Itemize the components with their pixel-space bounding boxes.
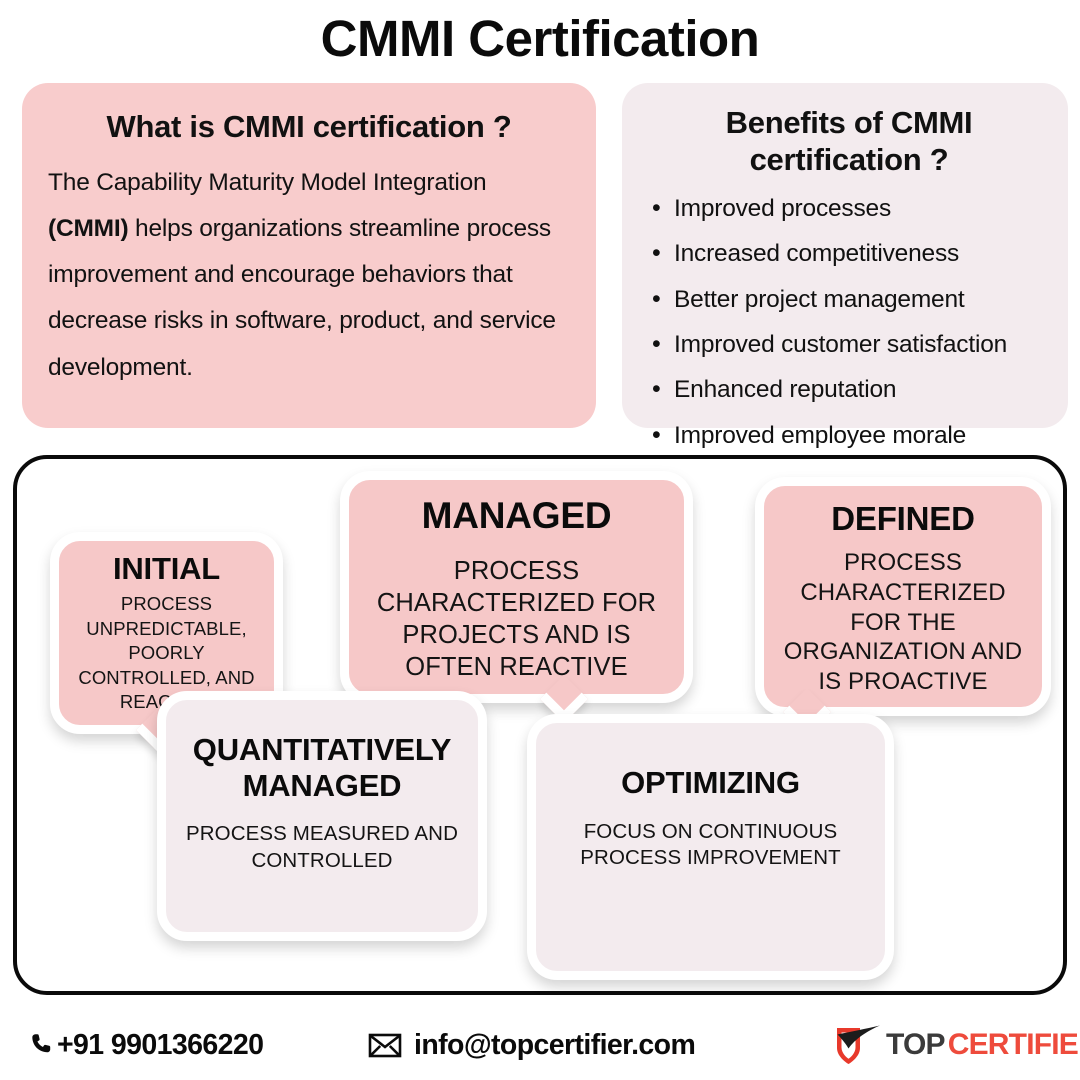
bubble-description: PROCESS CHARACTERIZED FOR THE ORGANIZATI… xyxy=(776,548,1030,697)
list-item: Better project management xyxy=(652,277,1054,322)
bubble-description: FOCUS ON CONTINUOUS PROCESS IMPROVEMENT xyxy=(548,819,873,871)
benefits-list: Improved processes Increased competitive… xyxy=(644,186,1054,458)
maturity-bubble-managed: MANAGED PROCESS CHARACTERIZED FOR PROJEC… xyxy=(340,471,693,703)
bubble-title: MANAGED xyxy=(361,495,672,537)
bubble-description: PROCESS MEASURED AND CONTROLLED xyxy=(178,821,466,873)
list-item: Improved employee morale xyxy=(652,413,1054,458)
footer-phone-text: +91 9901366220 xyxy=(57,1029,263,1062)
list-item: Improved customer satisfaction xyxy=(652,322,1054,367)
maturity-bubble-quantitatively-managed: QUANTITATIVELY MANAGED PROCESS MEASURED … xyxy=(157,691,487,941)
footer-phone[interactable]: +91 9901366220 xyxy=(28,1029,263,1062)
list-item: Improved processes xyxy=(652,186,1054,231)
card-benefits-heading: Benefits of CMMI certification ? xyxy=(644,103,1054,186)
card-what-heading: What is CMMI certification ? xyxy=(48,103,570,160)
bubble-title: QUANTITATIVELY MANAGED xyxy=(178,732,466,803)
maturity-bubble-defined: DEFINED PROCESS CHARACTERIZED FOR THE OR… xyxy=(755,477,1051,716)
footer-email[interactable]: info@topcertifier.com xyxy=(368,1029,695,1062)
bubble-title: OPTIMIZING xyxy=(548,765,873,801)
maturity-levels-panel: INITIAL PROCESS UNPREDICTABLE, POORLY CO… xyxy=(13,455,1067,995)
list-item: Enhanced reputation xyxy=(652,367,1054,412)
top-cards-row: What is CMMI certification ? The Capabil… xyxy=(22,83,1068,428)
bubble-title: DEFINED xyxy=(776,500,1030,538)
footer-email-text: info@topcertifier.com xyxy=(414,1029,695,1062)
what-body-acronym: (CMMI) xyxy=(48,215,128,242)
topcertifier-logo[interactable]: TOPCERTIFIER xyxy=(833,1022,1080,1068)
logo-text-top: TOP xyxy=(886,1028,945,1062)
what-body-before: The Capability Maturity Model Integratio… xyxy=(48,169,486,196)
card-benefits: Benefits of CMMI certification ? Improve… xyxy=(622,83,1068,428)
footer: +91 9901366220 info@topcertifier.com TOP… xyxy=(0,1010,1080,1080)
phone-icon xyxy=(28,1029,54,1061)
page-title: CMMI Certification xyxy=(0,0,1080,68)
maturity-bubble-optimizing: OPTIMIZING FOCUS ON CONTINUOUS PROCESS I… xyxy=(527,714,894,980)
bubble-description: PROCESS CHARACTERIZED FOR PROJECTS AND I… xyxy=(361,555,672,684)
envelope-icon xyxy=(368,1032,402,1058)
shield-logo-icon xyxy=(833,1022,883,1068)
bubble-title: INITIAL xyxy=(71,551,262,587)
list-item: Increased competitiveness xyxy=(652,231,1054,276)
card-what-is-cmmi: What is CMMI certification ? The Capabil… xyxy=(22,83,596,428)
logo-text-certifier: CERTIFIER xyxy=(948,1028,1080,1062)
card-what-body: The Capability Maturity Model Integratio… xyxy=(48,160,570,391)
